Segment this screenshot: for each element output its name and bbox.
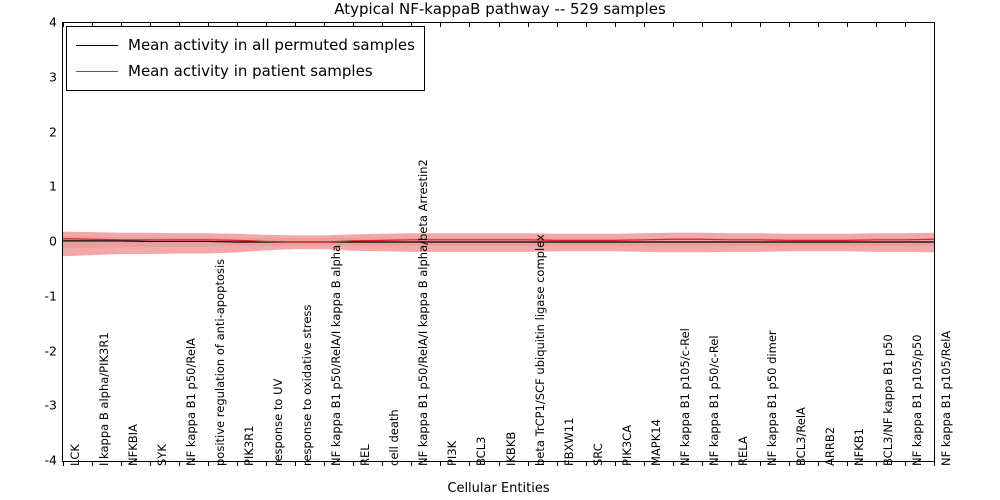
- x-tick-label: NF kappa B1 p50/c-Rel: [707, 335, 721, 466]
- x-tick-mark: [905, 461, 906, 466]
- x-tick-mark: [586, 461, 587, 466]
- legend: Mean activity in all permuted samples Me…: [66, 26, 425, 91]
- x-tick-mark: [557, 461, 558, 466]
- y-tick-label: 3: [49, 69, 62, 84]
- x-tick-mark: [528, 461, 529, 466]
- x-tick-label: beta TrCP1/SCF ubiquitin ligase complex: [533, 234, 547, 466]
- x-tick-mark: [150, 461, 151, 466]
- x-tick-mark: [92, 461, 93, 466]
- x-tick-mark: [440, 461, 441, 466]
- legend-line-permuted: [76, 45, 118, 46]
- x-tick-mark: [266, 461, 267, 466]
- legend-label-permuted: Mean activity in all permuted samples: [128, 36, 415, 54]
- y-tick-label: -1: [45, 288, 62, 303]
- x-tick-mark: [876, 22, 877, 27]
- x-tick-mark: [644, 22, 645, 27]
- x-tick-label: PIK3CA: [620, 425, 634, 466]
- x-tick-mark: [673, 461, 674, 466]
- chart-root: Atypical NF-kappaB pathway -- 529 sample…: [0, 0, 1000, 500]
- x-tick-mark: [702, 461, 703, 466]
- x-tick-mark: [847, 22, 848, 27]
- x-tick-mark: [324, 461, 325, 466]
- x-tick-label: NF kappa B1 p50 dimer: [765, 330, 779, 466]
- x-tick-mark: [63, 461, 64, 466]
- x-tick-mark: [499, 22, 500, 27]
- x-tick-label: NF kappa B1 p50/RelA: [184, 338, 198, 466]
- y-axis-ticks: -4-3-2-101234: [0, 22, 62, 462]
- chart-title: Atypical NF-kappaB pathway -- 529 sample…: [0, 0, 1000, 18]
- series-band: [63, 232, 934, 257]
- x-tick-mark: [615, 22, 616, 27]
- x-tick-label: LCK: [68, 444, 82, 466]
- x-tick-mark: [499, 461, 500, 466]
- x-tick-mark: [557, 22, 558, 27]
- x-tick-mark: [644, 461, 645, 466]
- x-tick-label: NF kappa B1 p105/c-Rel: [678, 328, 692, 466]
- x-tick-label: response to UV: [271, 379, 285, 466]
- x-tick-mark: [469, 22, 470, 27]
- x-tick-mark: [179, 461, 180, 466]
- x-tick-mark: [353, 461, 354, 466]
- x-tick-label: BCL3: [474, 437, 488, 466]
- x-tick-mark: [469, 461, 470, 466]
- y-tick-label: 2: [49, 124, 62, 139]
- x-axis-label: Cellular Entities: [62, 481, 935, 496]
- x-tick-label: response to oxidative stress: [300, 305, 314, 466]
- x-tick-mark: [121, 461, 122, 466]
- legend-item: Mean activity in all permuted samples: [76, 32, 415, 58]
- x-tick-mark: [934, 461, 935, 466]
- x-tick-mark: [528, 22, 529, 27]
- x-tick-mark: [818, 22, 819, 27]
- y-tick-label: -4: [45, 453, 62, 468]
- x-tick-label: positive regulation of anti-apoptosis: [213, 259, 227, 466]
- legend-line-patient: [76, 71, 118, 72]
- x-tick-mark: [615, 461, 616, 466]
- x-tick-label: RELA: [736, 436, 750, 466]
- x-tick-mark: [731, 461, 732, 466]
- x-tick-label: NF kappa B1 p105/p50: [910, 334, 924, 466]
- x-tick-mark: [411, 461, 412, 466]
- x-tick-label: BCL3/RelA: [794, 407, 808, 466]
- y-tick-label: 4: [49, 15, 62, 30]
- x-tick-label: NF kappa B1 p50/RelA/I kappa B alpha: [329, 245, 343, 466]
- x-tick-label: NF kappa B1 p50/RelA/I kappa B alpha/bet…: [416, 159, 430, 466]
- x-tick-label: ARRB2: [823, 427, 837, 466]
- y-tick-label: -2: [45, 343, 62, 358]
- x-tick-label: SRC: [591, 443, 605, 466]
- x-tick-mark: [440, 22, 441, 27]
- x-tick-label: REL: [358, 444, 372, 466]
- x-tick-label: I kappa B alpha/PIK3R1: [97, 332, 111, 466]
- x-tick-mark: [586, 22, 587, 27]
- x-tick-label: cell death: [387, 409, 401, 466]
- x-tick-mark: [789, 22, 790, 27]
- x-tick-mark: [876, 461, 877, 466]
- x-tick-mark: [702, 22, 703, 27]
- legend-label-patient: Mean activity in patient samples: [128, 62, 373, 80]
- x-tick-label: NF kappa B1 p105/RelA: [939, 331, 953, 466]
- x-tick-mark: [208, 461, 209, 466]
- x-tick-mark: [731, 22, 732, 27]
- legend-item: Mean activity in patient samples: [76, 58, 415, 84]
- x-tick-label: SYK: [155, 444, 169, 466]
- x-tick-mark: [818, 461, 819, 466]
- x-tick-mark: [905, 22, 906, 27]
- x-tick-mark: [63, 22, 64, 27]
- x-tick-label: FBXW11: [562, 418, 576, 466]
- x-tick-mark: [760, 22, 761, 27]
- x-tick-mark: [237, 461, 238, 466]
- x-tick-label: IKBKB: [504, 432, 518, 466]
- y-tick-label: -3: [45, 398, 62, 413]
- x-tick-label: MAPK14: [649, 419, 663, 466]
- x-tick-mark: [673, 22, 674, 27]
- x-tick-mark: [847, 461, 848, 466]
- x-tick-label: NFKB1: [852, 428, 866, 466]
- x-tick-mark: [760, 461, 761, 466]
- x-tick-label: PIK3R1: [242, 426, 256, 467]
- x-tick-mark: [789, 461, 790, 466]
- x-tick-mark: [382, 461, 383, 466]
- x-tick-label: BCL3/NF kappa B1 p50: [881, 334, 895, 466]
- y-tick-label: 1: [49, 179, 62, 194]
- x-tick-mark: [934, 22, 935, 27]
- x-tick-label: PI3K: [445, 441, 459, 466]
- x-tick-label: NFKBIA: [126, 424, 140, 466]
- x-tick-mark: [295, 461, 296, 466]
- y-tick-label: 0: [49, 234, 62, 249]
